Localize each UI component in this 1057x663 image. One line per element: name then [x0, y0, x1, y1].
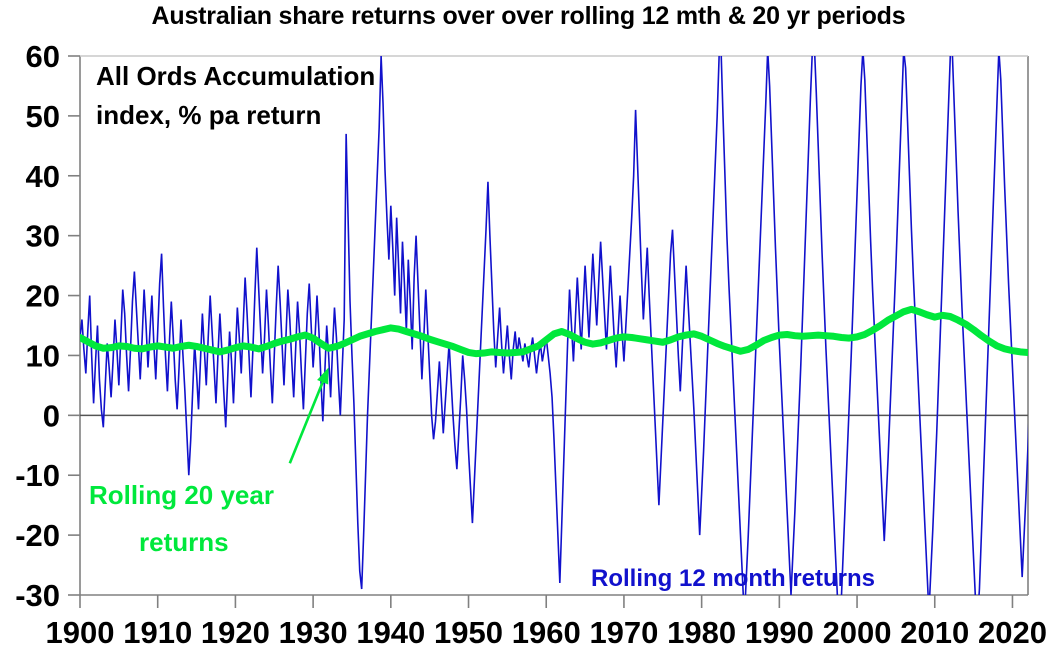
x-tick-label: 1900 [46, 615, 115, 650]
y-tick-label: -30 [15, 578, 60, 613]
rolling-20-year-label-line-2: returns [139, 527, 229, 557]
x-axis-ticks [80, 595, 1012, 608]
x-tick-label: 1930 [279, 615, 348, 650]
chart-plot-area: -30-20-100102030405060 19001910192019301… [0, 0, 1057, 663]
y-axis-ticks [68, 56, 80, 595]
y-tick-label: 0 [43, 398, 60, 433]
rolling-12-month-label: Rolling 12 month returns [591, 565, 875, 592]
annotation-arrow-head [317, 367, 329, 384]
y-tick-label: 40 [26, 159, 60, 194]
rolling-20-year-label-line-1: Rolling 20 year [89, 480, 274, 510]
x-tick-label: 1960 [512, 615, 581, 650]
y-tick-label: 60 [26, 39, 60, 74]
x-tick-label: 2020 [978, 615, 1047, 650]
y-tick-label: -20 [15, 518, 60, 553]
x-tick-label: 1970 [589, 615, 658, 650]
x-tick-label: 1940 [356, 615, 425, 650]
x-tick-label: 1990 [745, 615, 814, 650]
x-axis-tick-labels: 1900191019201930194019501960197019801990… [46, 615, 1047, 650]
x-tick-label: 2000 [823, 615, 892, 650]
y-axis-tick-labels: -30-20-100102030405060 [15, 39, 60, 613]
y-tick-label: 10 [26, 338, 60, 373]
x-tick-label: 1920 [201, 615, 270, 650]
index-note-line-2: index, % pa return [96, 100, 321, 130]
x-tick-label: 1980 [667, 615, 736, 650]
y-tick-label: 50 [26, 99, 60, 134]
y-tick-label: 20 [26, 279, 60, 314]
y-tick-label: -10 [15, 458, 60, 493]
x-tick-label: 2010 [900, 615, 969, 650]
chart-container: Australian share returns over over rolli… [0, 0, 1057, 663]
rolling-20-year-annotation: Rolling 20 year returns [89, 367, 329, 557]
index-note: All Ords Accumulation index, % pa return [96, 61, 375, 130]
index-note-line-1: All Ords Accumulation [96, 61, 375, 91]
y-tick-label: 30 [26, 219, 60, 254]
annotation-arrow-line [290, 382, 323, 463]
x-tick-label: 1950 [434, 615, 503, 650]
x-tick-label: 1910 [123, 615, 192, 650]
